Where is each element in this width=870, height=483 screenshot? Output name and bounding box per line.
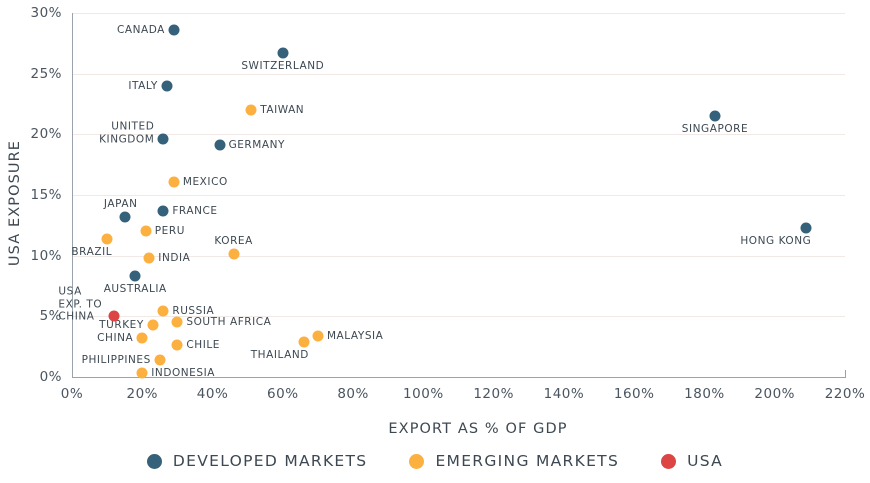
- x-axis-tick-label: 20%: [127, 386, 159, 402]
- data-point-label: PERU: [155, 225, 185, 238]
- data-point-label: TAIWAN: [260, 104, 304, 117]
- chart-legend: DEVELOPED MARKETSEMERGING MARKETSUSA: [0, 452, 870, 470]
- data-point-marker[interactable]: [137, 368, 148, 379]
- data-point-marker[interactable]: [168, 176, 179, 187]
- x-axis-tick-label: 80%: [337, 386, 369, 402]
- data-point-label: THAILAND: [251, 349, 309, 362]
- x-axis-tick-label: 0%: [61, 386, 83, 402]
- data-point-label: UNITED KINGDOM: [99, 121, 154, 146]
- data-point-marker[interactable]: [109, 311, 120, 322]
- data-point-label: MEXICO: [183, 175, 228, 188]
- data-point-marker[interactable]: [158, 205, 169, 216]
- data-point-label: INDIA: [158, 252, 190, 265]
- x-axis-title-text: EXPORT AS % OF GDP: [388, 421, 567, 437]
- legend-label: DEVELOPED MARKETS: [173, 452, 368, 470]
- x-axis-tick-label: 160%: [614, 386, 655, 402]
- y-axis-tick-label: 0%: [16, 369, 62, 385]
- data-point-label: HONG KONG: [740, 235, 811, 248]
- data-point-marker[interactable]: [161, 80, 172, 91]
- data-point-marker[interactable]: [709, 111, 720, 122]
- data-point-label: ITALY: [128, 80, 158, 93]
- data-point-marker[interactable]: [246, 105, 257, 116]
- scatter-chart: 0%5%10%15%20%25%30% 0%20%40%60%80%100%12…: [0, 0, 870, 483]
- data-point-marker[interactable]: [102, 233, 113, 244]
- x-axis-tick-label: 100%: [403, 386, 444, 402]
- data-point-marker[interactable]: [147, 319, 158, 330]
- data-point-marker[interactable]: [130, 271, 141, 282]
- y-axis-title: USA EXPOSURE: [7, 83, 23, 323]
- circle-marker-icon: [661, 454, 676, 469]
- x-axis-tick-label: 140%: [544, 386, 585, 402]
- data-point-label: JAPAN: [104, 198, 138, 211]
- data-point-label: KOREA: [214, 235, 252, 248]
- x-axis-tick-label: 180%: [684, 386, 725, 402]
- data-point-marker[interactable]: [172, 317, 183, 328]
- data-point-marker[interactable]: [228, 249, 239, 260]
- data-point-label: CHILE: [186, 339, 220, 352]
- x-axis-right-cap: [845, 370, 846, 378]
- data-point-marker[interactable]: [312, 330, 323, 341]
- data-point-label: GERMANY: [229, 139, 285, 152]
- y-axis-tick-label: 25%: [16, 66, 62, 82]
- data-point-label: PHILIPPINES: [82, 354, 151, 367]
- data-point-label: CANADA: [117, 24, 165, 37]
- data-point-label: USA EXP. TO CHINA: [58, 286, 102, 324]
- data-point-marker[interactable]: [214, 140, 225, 151]
- legend-label: EMERGING MARKETS: [435, 452, 619, 470]
- data-points-layer: CANADASWITZERLANDITALYUNITED KINGDOMGERM…: [72, 13, 845, 377]
- data-point-label: FRANCE: [172, 205, 217, 218]
- data-point-marker[interactable]: [168, 24, 179, 35]
- data-point-marker[interactable]: [144, 253, 155, 264]
- data-point-label: TURKEY: [99, 319, 144, 332]
- data-point-marker[interactable]: [140, 226, 151, 237]
- legend-item[interactable]: USA: [661, 452, 723, 470]
- x-axis-tick-label: 60%: [267, 386, 299, 402]
- data-point-marker[interactable]: [137, 333, 148, 344]
- legend-item[interactable]: EMERGING MARKETS: [409, 452, 619, 470]
- x-axis-tick-label: 220%: [825, 386, 866, 402]
- data-point-label: MALAYSIA: [327, 329, 383, 342]
- x-axis-tick-label: 120%: [473, 386, 514, 402]
- data-point-label: CHINA: [97, 332, 133, 345]
- circle-marker-icon: [147, 454, 162, 469]
- legend-label: USA: [687, 452, 723, 470]
- data-point-label: AUSTRALIA: [104, 283, 167, 296]
- data-point-marker[interactable]: [298, 336, 309, 347]
- data-point-marker[interactable]: [277, 48, 288, 59]
- x-axis-tick-label: 200%: [754, 386, 795, 402]
- data-point-label: INDONESIA: [151, 367, 215, 380]
- legend-item[interactable]: DEVELOPED MARKETS: [147, 452, 368, 470]
- data-point-label: SOUTH AFRICA: [186, 316, 271, 329]
- data-point-marker[interactable]: [119, 211, 130, 222]
- data-point-label: SINGAPORE: [682, 123, 748, 136]
- y-axis-tick-label: 30%: [16, 5, 62, 21]
- data-point-marker[interactable]: [801, 222, 812, 233]
- data-point-marker[interactable]: [154, 355, 165, 366]
- data-point-label: SWITZERLAND: [241, 60, 324, 73]
- data-point-label: BRAZIL: [71, 246, 112, 259]
- data-point-marker[interactable]: [172, 340, 183, 351]
- circle-marker-icon: [409, 454, 424, 469]
- x-axis-tick-label: 40%: [197, 386, 229, 402]
- x-axis-title: EXPORT AS % OF GDP: [0, 421, 870, 437]
- data-point-marker[interactable]: [158, 134, 169, 145]
- data-point-marker[interactable]: [158, 306, 169, 317]
